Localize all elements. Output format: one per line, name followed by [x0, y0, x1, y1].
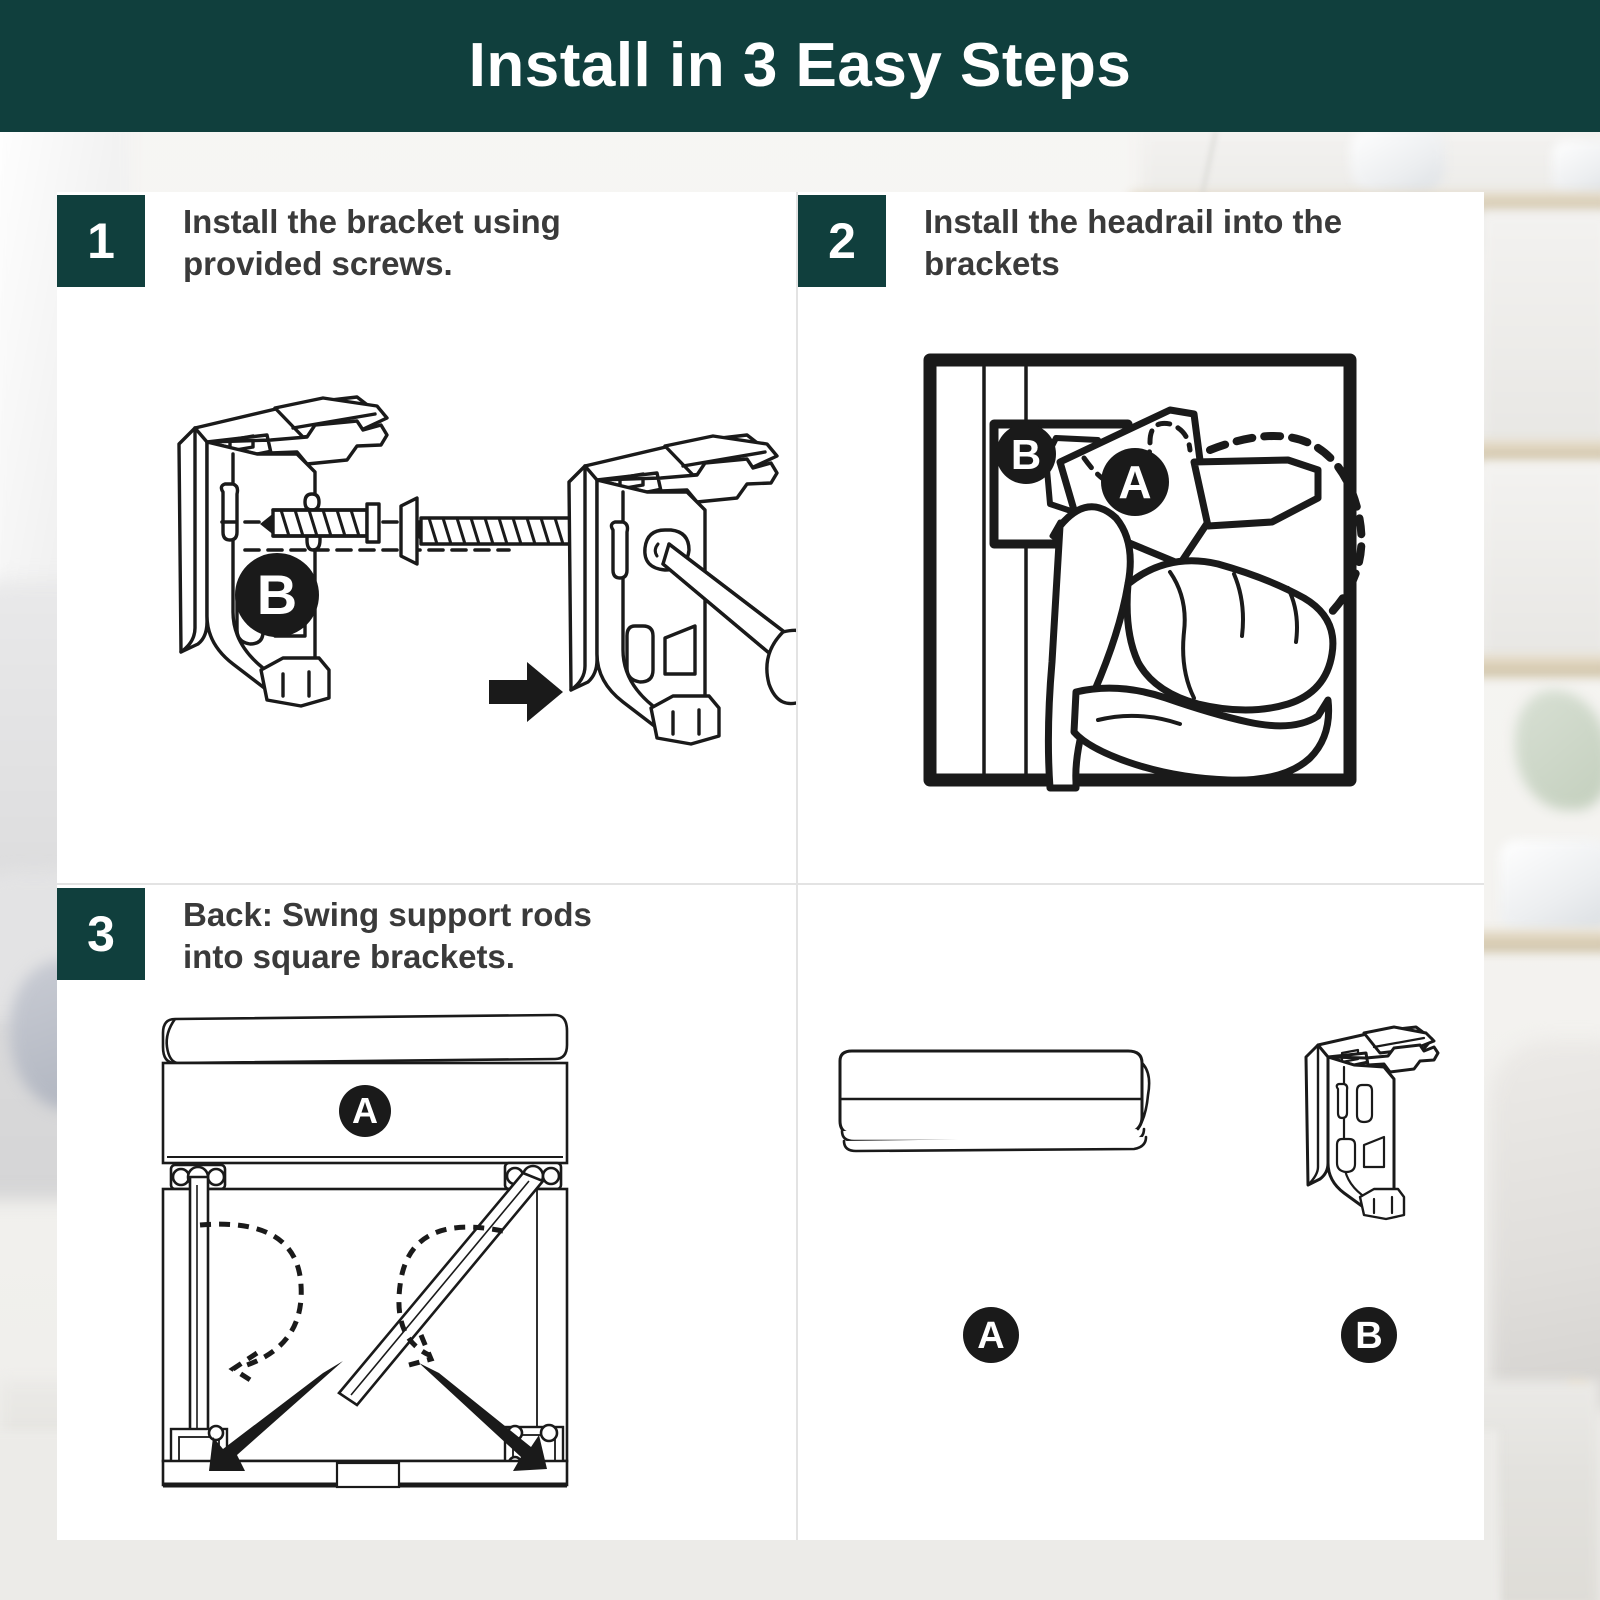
background-shelf-board-4	[1468, 930, 1600, 952]
step-cell-1: 1 Install the bracket using provided scr…	[57, 192, 798, 885]
callout-badge-a-step3: A	[339, 1085, 391, 1137]
step-cell-3: 3 Back: Swing support rods into square b…	[57, 885, 798, 1540]
insert-arrow-left	[209, 1361, 343, 1471]
support-rod-left	[190, 1177, 208, 1457]
part-a-headrail-drawing	[840, 1051, 1149, 1151]
header-banner: Install in 3 Easy Steps	[0, 0, 1600, 132]
callout-badge-b-step1: B	[235, 553, 319, 637]
bracket-right-drawing	[569, 435, 798, 744]
rotation-arc-dashed	[1210, 436, 1361, 664]
part-label-b: B	[1341, 1307, 1397, 1363]
headrail-drawing	[1060, 410, 1318, 564]
screw-short	[260, 504, 379, 542]
shade-back-view	[163, 1015, 567, 1487]
background-shelf-backing-3	[1480, 462, 1600, 662]
bracket-mounted-drawing	[994, 424, 1128, 567]
pivot-right	[505, 1163, 561, 1189]
part-b-bracket-drawing	[1306, 1027, 1438, 1219]
step-2-number: 2	[798, 195, 886, 287]
step-3-illustration: A	[57, 885, 796, 1540]
part-label-a: A	[963, 1307, 1019, 1363]
pivot-left	[171, 1165, 225, 1189]
callout-badge-b-step2: B	[996, 424, 1056, 484]
callout-badge-a-step2: A	[1101, 448, 1169, 516]
insert-arrow-right	[419, 1363, 547, 1471]
background-bowl	[1552, 140, 1600, 195]
step-2-header: 2 Install the headrail into the brackets	[798, 195, 1394, 287]
steps-card: 1 Install the bracket using provided scr…	[57, 192, 1484, 1540]
screw-long	[401, 498, 593, 564]
background-chair	[1490, 1040, 1600, 1410]
step-2-illustration: A B	[798, 192, 1484, 883]
step-3-text: Back: Swing support rods into square bra…	[145, 888, 653, 978]
background-shelf-board-2	[1470, 440, 1600, 462]
svg-text:B: B	[1355, 1315, 1382, 1357]
swing-arc-left	[200, 1224, 301, 1383]
step-2-text: Install the headrail into the brackets	[886, 195, 1394, 285]
step-1-header: 1 Install the bracket using provided scr…	[57, 195, 653, 287]
background-vase	[1350, 128, 1445, 198]
parts-cell: A B	[798, 885, 1484, 1540]
svg-text:B: B	[1011, 431, 1041, 478]
step-3-header: 3 Back: Swing support rods into square b…	[57, 888, 653, 980]
progress-arrow-icon	[489, 662, 563, 722]
square-bracket-right	[505, 1425, 563, 1471]
step-1-number: 1	[57, 195, 145, 287]
background-shelf-board-3	[1468, 655, 1600, 677]
svg-text:A: A	[352, 1090, 378, 1131]
page-title: Install in 3 Easy Steps	[469, 35, 1132, 97]
bracket-left-drawing	[179, 397, 593, 706]
support-rod-right	[339, 1173, 543, 1405]
step-1-text: Install the bracket using provided screw…	[145, 195, 653, 285]
step-1-illustration: B	[57, 192, 796, 883]
svg-text:A: A	[1118, 456, 1151, 508]
step-cell-2: 2 Install the headrail into the brackets	[798, 192, 1484, 885]
step-3-number: 3	[57, 888, 145, 980]
svg-text:A: A	[977, 1315, 1004, 1357]
background-shelf-backing-2	[1480, 210, 1600, 450]
swing-arc-right	[399, 1227, 503, 1365]
hand-drawing	[1048, 507, 1333, 788]
screwdriver	[663, 544, 798, 704]
square-bracket-left	[171, 1426, 227, 1471]
background-folded-textile	[1500, 840, 1600, 930]
parts-illustration: A B	[798, 885, 1484, 1540]
svg-text:B: B	[257, 563, 297, 626]
